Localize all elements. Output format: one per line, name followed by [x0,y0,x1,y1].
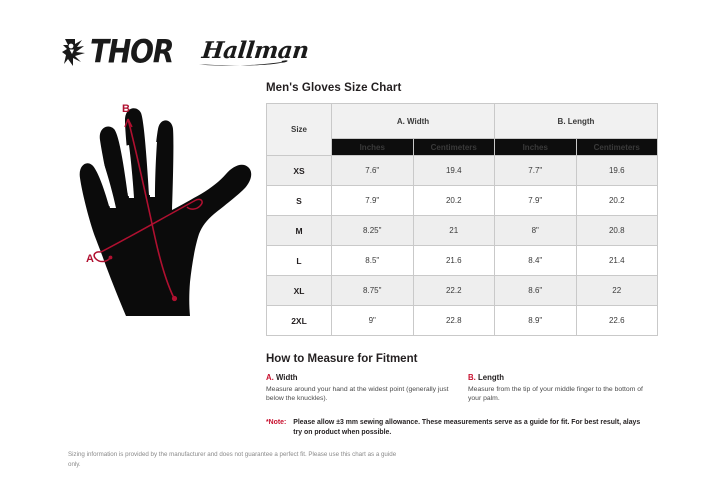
page-title: Men's Gloves Size Chart [266,82,660,94]
column-header-length-inches: Inches [495,139,577,156]
size-chart-table: Size A. Width B. Length Inches Centimete… [266,103,658,336]
measure-width-heading: A. Width [266,373,456,382]
column-header-width-group: A. Width [332,104,495,139]
cell-size: M [267,216,332,246]
footer-disclaimer: Sizing information is provided by the ma… [68,450,398,469]
cell-length-inches: 7.7" [495,156,577,186]
measure-length-label: Length [478,373,504,382]
measure-width-letter: A. [266,373,274,382]
cell-size: S [267,186,332,216]
diagram-label-a: A [86,253,94,265]
thor-lightning-emblem-icon [62,37,88,67]
measure-width-text: Measure around your hand at the widest p… [266,385,456,405]
measure-length-column: B. Length Measure from the tip of your m… [468,373,658,404]
cell-width-centimeters: 20.2 [413,186,495,216]
measure-width-column: A. Width Measure around your hand at the… [266,373,456,404]
cell-width-centimeters: 21 [413,216,495,246]
cell-size: L [267,246,332,276]
cell-width-inches: 7.6" [332,156,414,186]
column-header-width-centimeters: Centimeters [413,139,495,156]
cell-length-centimeters: 20.2 [576,186,658,216]
cell-length-centimeters: 20.8 [576,216,658,246]
cell-length-inches: 8" [495,216,577,246]
measure-length-letter: B. [468,373,476,382]
brand-logo-bar: THOR Hallman [62,32,311,72]
cell-width-inches: 9" [332,306,414,336]
column-header-length-centimeters: Centimeters [576,139,658,156]
column-header-length-group: B. Length [495,104,658,139]
table-row: XS 7.6" 19.4 7.7" 19.6 [267,156,658,186]
cell-length-inches: 8.4" [495,246,577,276]
measure-length-text: Measure from the tip of your middle fing… [468,385,658,405]
cell-length-centimeters: 22.6 [576,306,658,336]
cell-size: XS [267,156,332,186]
table-row: XL 8.75" 22.2 8.6" 22 [267,276,658,306]
note-label: *Note: [266,418,286,438]
thor-logo: THOR [62,37,170,67]
how-to-measure-columns: A. Width Measure around your hand at the… [266,373,660,404]
cell-width-inches: 8.75" [332,276,414,306]
note-text: Please allow ±3 mm sewing allowance. The… [293,418,645,438]
table-row: S 7.9" 20.2 7.9" 20.2 [267,186,658,216]
how-to-measure-title: How to Measure for Fitment [266,353,660,365]
column-header-width-inches: Inches [332,139,414,156]
table-body: XS 7.6" 19.4 7.7" 19.6 S 7.9" 20.2 7.9" … [267,156,658,336]
cell-size: XL [267,276,332,306]
cell-width-centimeters: 19.4 [413,156,495,186]
cell-width-centimeters: 22.2 [413,276,495,306]
table-row: L 8.5" 21.6 8.4" 21.4 [267,246,658,276]
hand-measurement-diagram: B A [68,96,264,328]
size-chart-content: Men's Gloves Size Chart Size A. Width B.… [266,82,660,438]
measure-length-heading: B. Length [468,373,658,382]
hallman-logo: Hallman [200,39,311,66]
cell-width-centimeters: 21.6 [413,246,495,276]
cell-length-inches: 8.6" [495,276,577,306]
cell-size: 2XL [267,306,332,336]
hand-silhouette-icon: B A [68,96,264,328]
column-header-size: Size [267,104,332,156]
table-header-row-groups: Size A. Width B. Length [267,104,658,139]
table-row: M 8.25" 21 8" 20.8 [267,216,658,246]
cell-length-centimeters: 19.6 [576,156,658,186]
cell-width-centimeters: 22.8 [413,306,495,336]
cell-width-inches: 8.25" [332,216,414,246]
cell-length-inches: 7.9" [495,186,577,216]
cell-width-inches: 7.9" [332,186,414,216]
cell-length-centimeters: 21.4 [576,246,658,276]
thor-wordmark: THOR [90,36,173,68]
hallman-underline-swoosh-icon [198,58,288,67]
cell-width-inches: 8.5" [332,246,414,276]
cell-length-centimeters: 22 [576,276,658,306]
note-row: *Note: Please allow ±3 mm sewing allowan… [266,418,660,438]
table-header: Size A. Width B. Length Inches Centimete… [267,104,658,156]
diagram-label-b: B [122,103,130,115]
cell-length-inches: 8.9" [495,306,577,336]
how-to-measure-section: How to Measure for Fitment A. Width Meas… [266,353,660,438]
measure-width-label: Width [276,373,298,382]
table-row: 2XL 9" 22.8 8.9" 22.6 [267,306,658,336]
